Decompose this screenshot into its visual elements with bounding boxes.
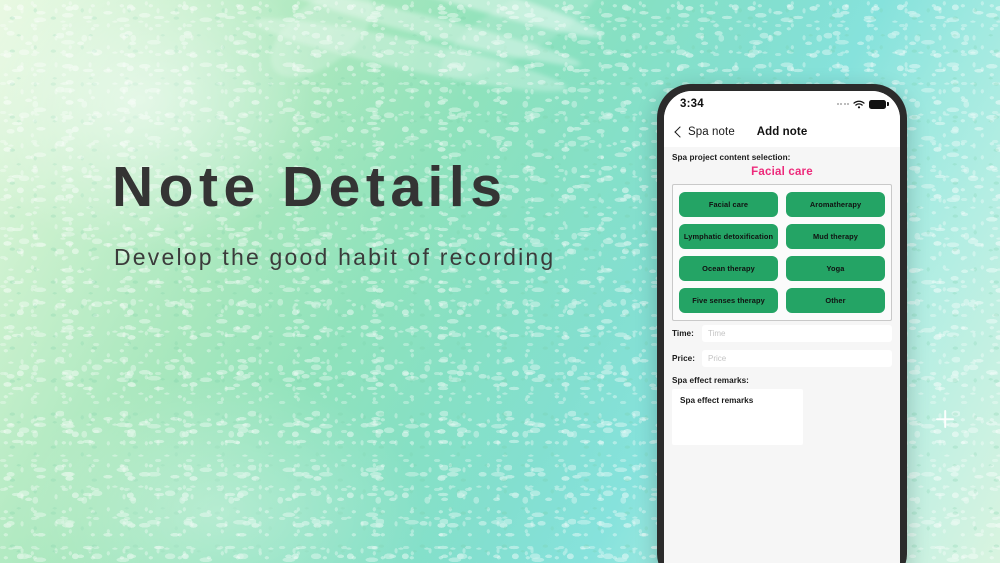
- option-button-other[interactable]: Other: [786, 288, 885, 313]
- leaf-streak-2: [287, 0, 583, 74]
- selected-option-value: Facial care: [664, 165, 900, 184]
- status-bar: 3:34: [664, 91, 900, 117]
- price-row: Price:: [664, 346, 900, 371]
- chevron-left-icon: [674, 126, 685, 137]
- phone-mockup: 3:34 Spa note: [657, 84, 907, 563]
- sparkle-icon: [936, 410, 954, 428]
- leaf-streak-4: [256, 0, 389, 94]
- option-button-five-senses-therapy[interactable]: Five senses therapy: [679, 288, 778, 313]
- option-button-ocean-therapy[interactable]: Ocean therapy: [679, 256, 778, 281]
- phone-screen: 3:34 Spa note: [664, 91, 900, 563]
- leaf-streak-3: [250, 7, 569, 103]
- option-button-aromatherapy[interactable]: Aromatherapy: [786, 192, 885, 217]
- option-grid: Facial care Aromatherapy Lymphatic detox…: [672, 184, 892, 321]
- promo-stage: Note Details Develop the good habit of r…: [0, 0, 1000, 563]
- nav-bar: Spa note Add note: [664, 117, 900, 147]
- status-bar-time: 3:34: [680, 98, 704, 110]
- wifi-icon: [853, 100, 865, 109]
- background-glow-bottom-left: [0, 323, 500, 563]
- time-label: Time:: [672, 329, 696, 338]
- page-filler: [664, 450, 900, 563]
- signal-dots-icon: [837, 103, 850, 105]
- hero-copy: Note Details Develop the good habit of r…: [112, 158, 555, 271]
- price-input[interactable]: [702, 350, 892, 367]
- page-subtitle: Develop the good habit of recording: [114, 244, 555, 271]
- back-button[interactable]: Spa note: [676, 126, 735, 138]
- option-button-mud-therapy[interactable]: Mud therapy: [786, 224, 885, 249]
- leaf-streak-1: [254, 0, 606, 48]
- option-button-yoga[interactable]: Yoga: [786, 256, 885, 281]
- back-button-label: Spa note: [688, 126, 735, 138]
- battery-full-icon: [869, 100, 886, 109]
- leaf-streak-5: [429, 0, 612, 95]
- page-title: Note Details: [112, 158, 555, 218]
- time-input[interactable]: [702, 325, 892, 342]
- remarks-label: Spa effect remarks:: [664, 371, 900, 389]
- selection-label: Spa project content selection:: [664, 147, 900, 165]
- remarks-textarea[interactable]: [672, 389, 803, 445]
- time-row: Time:: [664, 321, 900, 346]
- option-button-lymphatic-detoxification[interactable]: Lymphatic detoxification: [679, 224, 778, 249]
- price-label: Price:: [672, 354, 696, 363]
- status-bar-indicators: [837, 100, 887, 109]
- option-button-facial-care[interactable]: Facial care: [679, 192, 778, 217]
- form-page: Spa project content selection: Facial ca…: [664, 147, 900, 563]
